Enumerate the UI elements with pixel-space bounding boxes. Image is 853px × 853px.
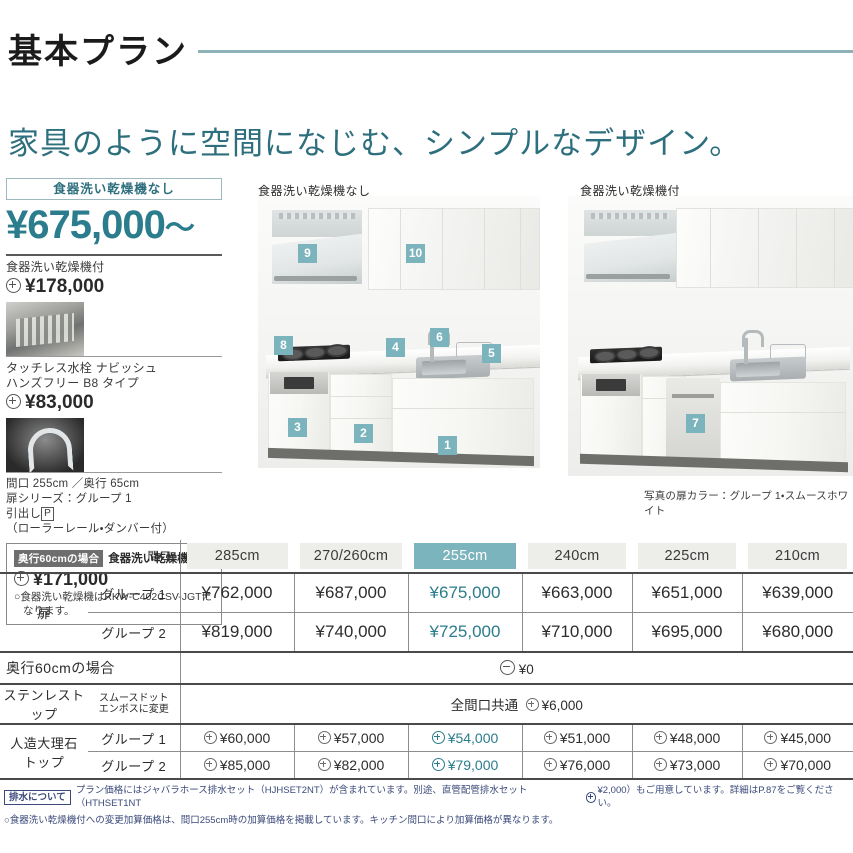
- option-faucet-price-value: ¥83,000: [25, 392, 94, 413]
- oven-face: [582, 374, 640, 396]
- base-price-tilde: 〜: [165, 212, 194, 245]
- cabinet-seam: [520, 208, 521, 290]
- price-door-g1-240: ¥663,000: [522, 573, 632, 613]
- drawer-seam: [720, 412, 846, 413]
- callout-1[interactable]: 1: [438, 436, 457, 455]
- range-hood: [272, 210, 362, 284]
- hood-top: [272, 210, 362, 237]
- header-label-maguchi: 間口: [0, 540, 180, 573]
- oven-window: [596, 379, 626, 391]
- price-marble-g1-255: ¥54,000: [408, 724, 522, 752]
- spec-dimensions: 間口 255cm ／奥行 65cm: [6, 477, 222, 492]
- callout-8[interactable]: 8: [274, 336, 293, 355]
- stainless-value: ¥6,000: [542, 698, 583, 713]
- price-marble-g1-225: ¥48,000: [632, 724, 742, 752]
- price-marble-g2-210: ¥70,000: [742, 752, 853, 780]
- base-cabinet-middle: [330, 374, 392, 458]
- cabinet-seam: [796, 208, 797, 288]
- plus-circle-icon: [6, 278, 21, 293]
- kitchen-image-with-dishwasher: 7: [568, 196, 853, 476]
- oven-face: [270, 372, 328, 394]
- cabinet-seam: [442, 208, 443, 290]
- plus-circle-icon: [544, 758, 557, 771]
- page-title: 基本プラン: [8, 24, 188, 73]
- burner: [596, 351, 614, 361]
- footer-line1-b: ¥2,000）もご用意しています。詳細はP.87をご覧ください。: [597, 784, 849, 810]
- option-dishwasher-price-value: ¥178,000: [25, 276, 104, 297]
- value: ¥45,000: [780, 730, 831, 746]
- kitchen-image-without-dishwasher: 9 10 8 4 6 5 3 2 1: [258, 196, 540, 468]
- price-marble-g1-240: ¥51,000: [522, 724, 632, 752]
- value: ¥79,000: [448, 757, 499, 773]
- burner: [306, 348, 324, 358]
- spec-door-series: 扉シリーズ：グループ 1: [6, 492, 222, 507]
- marble-label-line1: 人造大理石: [0, 733, 88, 752]
- option-dishwasher-label: 食器洗い乾燥機付: [6, 260, 222, 275]
- base-cabinet-sink: [720, 382, 846, 468]
- stainless-value-cell: 全間口共通 ¥6,000: [180, 684, 853, 724]
- column-header-210cm[interactable]: 210cm: [748, 543, 847, 569]
- value: ¥73,000: [670, 757, 721, 773]
- plus-circle-icon: [204, 731, 217, 744]
- value: ¥70,000: [780, 757, 831, 773]
- plus-circle-icon: [764, 731, 777, 744]
- upper-cabinet: [676, 208, 853, 288]
- value: ¥54,000: [448, 730, 499, 746]
- table-row: グループ 2 ¥819,000 ¥740,000 ¥725,000 ¥710,0…: [0, 613, 853, 653]
- option-faucet-label-line1: タッチレス水栓 ナビッシュ: [6, 361, 222, 376]
- plus-circle-icon: [204, 758, 217, 771]
- callout-4[interactable]: 4: [386, 338, 405, 357]
- upper-cabinet: [368, 208, 540, 290]
- catalog-page: 基本プラン 家具のように空間になじむ、シンプルなデザイン。 食器洗い乾燥機なし …: [0, 0, 853, 853]
- column-header-285cm[interactable]: 285cm: [187, 543, 289, 569]
- option-faucet-label-line2: ハンズフリー B8 タイプ: [6, 376, 222, 391]
- value: ¥48,000: [670, 730, 721, 746]
- value: ¥85,000: [220, 757, 271, 773]
- table-row-depth60: 奥行60cmの場合 ¥0: [0, 652, 853, 684]
- dish-rack: [770, 344, 806, 359]
- price-door-g1-225: ¥651,000: [632, 573, 742, 613]
- value: ¥82,000: [334, 757, 385, 773]
- drawer-seam: [330, 418, 392, 419]
- plus-circle-icon: [318, 731, 331, 744]
- callout-7[interactable]: 7: [686, 414, 705, 433]
- plus-circle-icon: [586, 792, 597, 803]
- price-marble-g2-270: ¥82,000: [294, 752, 408, 780]
- table-header-row: 間口 285cm 270/260cm 255cm 240cm 225cm 210…: [0, 540, 853, 573]
- burner: [328, 346, 346, 356]
- hood-lip: [274, 276, 357, 281]
- plus-circle-icon: [526, 698, 539, 711]
- row-label-group1: グループ 1: [88, 573, 180, 613]
- spec-drawer-label: 引出し: [6, 508, 41, 520]
- price-door-g1-255: ¥675,000: [408, 573, 522, 613]
- spec-drawer: 引出しP （ローラーレール・ダンバー付）: [6, 507, 222, 537]
- plus-circle-icon: [544, 731, 557, 744]
- photo-color-note: 写真の扉カラー：グループ 1・スムースホワイト: [644, 488, 853, 518]
- page-subtitle: 家具のように空間になじむ、シンプルなデザイン。: [8, 118, 741, 163]
- price-marble-g2-285: ¥85,000: [180, 752, 294, 780]
- price-door-g1-210: ¥639,000: [742, 573, 853, 613]
- option-faucet: タッチレス水栓 ナビッシュ ハンズフリー B8 タイプ ¥83,000: [6, 357, 222, 472]
- price-door-g2-240: ¥710,000: [522, 613, 632, 653]
- option-faucet-price: ¥83,000: [6, 392, 222, 414]
- stainless-value-prefix: 全間口共通: [451, 698, 519, 713]
- depth60-value-cell: ¥0: [180, 652, 853, 684]
- price-door-g2-225: ¥695,000: [632, 613, 742, 653]
- row-label-depth60: 奥行60cmの場合: [0, 652, 180, 684]
- plus-circle-icon: [764, 758, 777, 771]
- dishwasher-photo: [6, 302, 84, 356]
- row-label-door: 扉: [0, 573, 88, 652]
- dishwasher-none-badge: 食器洗い乾燥機なし: [6, 178, 222, 200]
- column-header-255cm[interactable]: 255cm: [414, 543, 516, 569]
- footer-line1: 排水について プラン価格にはジャバラホース排水セット（HJHSET2NT）が含ま…: [4, 784, 849, 810]
- hood-vent: [279, 213, 355, 219]
- table-row: 扉 グループ 1 ¥762,000 ¥687,000 ¥675,000 ¥663…: [0, 573, 853, 613]
- drawer-seam: [392, 408, 534, 409]
- price-door-g2-270: ¥740,000: [294, 613, 408, 653]
- spec-drawer-badge: P: [41, 507, 54, 521]
- callout-5[interactable]: 5: [482, 344, 501, 363]
- row-label-stainless-sub: スムースドット エンボスに変更: [88, 684, 180, 724]
- gas-cooktop: [590, 347, 662, 364]
- price-door-g1-285: ¥762,000: [180, 573, 294, 613]
- footer-line1-a: プラン価格にはジャバラホース排水セット（HJHSET2NT）が含まれています。別…: [76, 784, 586, 810]
- price-door-g2-255: ¥725,000: [408, 613, 522, 653]
- row-label-stainless: ステンレストップ: [0, 684, 88, 724]
- hood-lip: [586, 274, 671, 279]
- marble-label-line2: トップ: [0, 752, 88, 771]
- option-dishwasher: 食器洗い乾燥機付 ¥178,000: [6, 256, 222, 356]
- row-label-marble-group1: グループ 1: [88, 724, 180, 752]
- sink: [416, 355, 490, 380]
- plus-circle-icon: [432, 758, 445, 771]
- plus-circle-icon: [318, 758, 331, 771]
- price-door-g1-270: ¥687,000: [294, 573, 408, 613]
- callout-3[interactable]: 3: [288, 418, 307, 437]
- price-marble-g1-270: ¥57,000: [294, 724, 408, 752]
- cabinet-seam: [710, 208, 711, 288]
- faucet-arc: [742, 330, 764, 347]
- plus-circle-icon: [654, 758, 667, 771]
- value: ¥60,000: [220, 730, 271, 746]
- base-price-value: ¥675,000: [6, 203, 165, 247]
- value: ¥51,000: [560, 730, 611, 746]
- price-marble-g1-210: ¥45,000: [742, 724, 853, 752]
- sink-basin: [422, 360, 466, 376]
- price-marble-g2-240: ¥76,000: [522, 752, 632, 780]
- range-hood: [584, 210, 676, 282]
- callout-2[interactable]: 2: [354, 424, 373, 443]
- plus-circle-icon: [654, 731, 667, 744]
- spec-drawer-rest: （ローラーレール・ダンバー付）: [6, 523, 174, 535]
- stainless-sub-line1: スムースドット: [88, 693, 180, 704]
- minus-circle-icon: [500, 660, 515, 675]
- page-title-row: 基本プラン: [8, 24, 853, 72]
- option-dishwasher-price: ¥178,000: [6, 276, 222, 298]
- price-marble-g2-225: ¥73,000: [632, 752, 742, 780]
- stainless-sub-line2: エンボスに変更: [88, 704, 180, 715]
- cabinet-seam: [400, 208, 401, 290]
- drawer-seam: [330, 396, 392, 397]
- title-rule: [198, 50, 853, 53]
- base-price: ¥675,000〜: [6, 202, 222, 252]
- price-marble-g2-255: ¥79,000: [408, 752, 522, 780]
- cabinet-seam: [834, 208, 835, 288]
- footer-notes: 排水について プラン価格にはジャバラホース排水セット（HJHSET2NT）が含ま…: [4, 784, 849, 828]
- hood-top: [584, 210, 676, 236]
- callout-9[interactable]: 9: [298, 244, 317, 263]
- dishwasher-control-panel: [672, 394, 714, 398]
- column-header-240cm[interactable]: 240cm: [528, 543, 626, 569]
- row-label-marble: 人造大理石 トップ: [0, 724, 88, 779]
- hood-vent: [591, 213, 668, 219]
- sink-basin: [736, 362, 780, 378]
- cabinet-seam: [758, 208, 759, 288]
- table-row: グループ 2 ¥85,000 ¥82,000 ¥79,000 ¥76,000 ¥…: [0, 752, 853, 780]
- base-cabinet-sink: [392, 378, 534, 462]
- price-table-wrap: 間口 285cm 270/260cm 255cm 240cm 225cm 210…: [0, 540, 853, 780]
- price-table: 間口 285cm 270/260cm 255cm 240cm 225cm 210…: [0, 540, 853, 780]
- callout-6[interactable]: 6: [430, 328, 449, 347]
- burner: [640, 348, 658, 358]
- burner: [618, 350, 636, 360]
- table-row-stainless: ステンレストップ スムースドット エンボスに変更 全間口共通 ¥6,000: [0, 684, 853, 724]
- callout-10[interactable]: 10: [406, 244, 425, 263]
- value: ¥57,000: [334, 730, 385, 746]
- plus-circle-icon: [432, 731, 445, 744]
- row-label-group2: グループ 2: [88, 613, 180, 653]
- spec-list: 間口 255cm ／奥行 65cm 扉シリーズ：グループ 1 引出しP （ローラ…: [6, 473, 222, 537]
- oven-window: [284, 377, 314, 389]
- cabinet-seam: [484, 208, 485, 290]
- price-door-g2-285: ¥819,000: [180, 613, 294, 653]
- price-marble-g1-285: ¥60,000: [180, 724, 294, 752]
- plus-circle-icon: [6, 394, 21, 409]
- footer-line2: ○食器洗い乾燥機付への変更加算価格は、間口255cm時の加算価格を掲載しています…: [4, 814, 849, 828]
- price-door-g2-210: ¥680,000: [742, 613, 853, 653]
- depth60-value: ¥0: [519, 662, 534, 677]
- drainage-badge: 排水について: [4, 790, 71, 805]
- column-header-225cm[interactable]: 225cm: [638, 543, 736, 569]
- column-header-270-260cm[interactable]: 270/260cm: [300, 543, 402, 569]
- sink: [730, 357, 806, 382]
- value: ¥76,000: [560, 757, 611, 773]
- table-row: 人造大理石 トップ グループ 1 ¥60,000 ¥57,000 ¥54,000…: [0, 724, 853, 752]
- row-label-marble-group2: グループ 2: [88, 752, 180, 780]
- faucet-photo: [6, 418, 84, 472]
